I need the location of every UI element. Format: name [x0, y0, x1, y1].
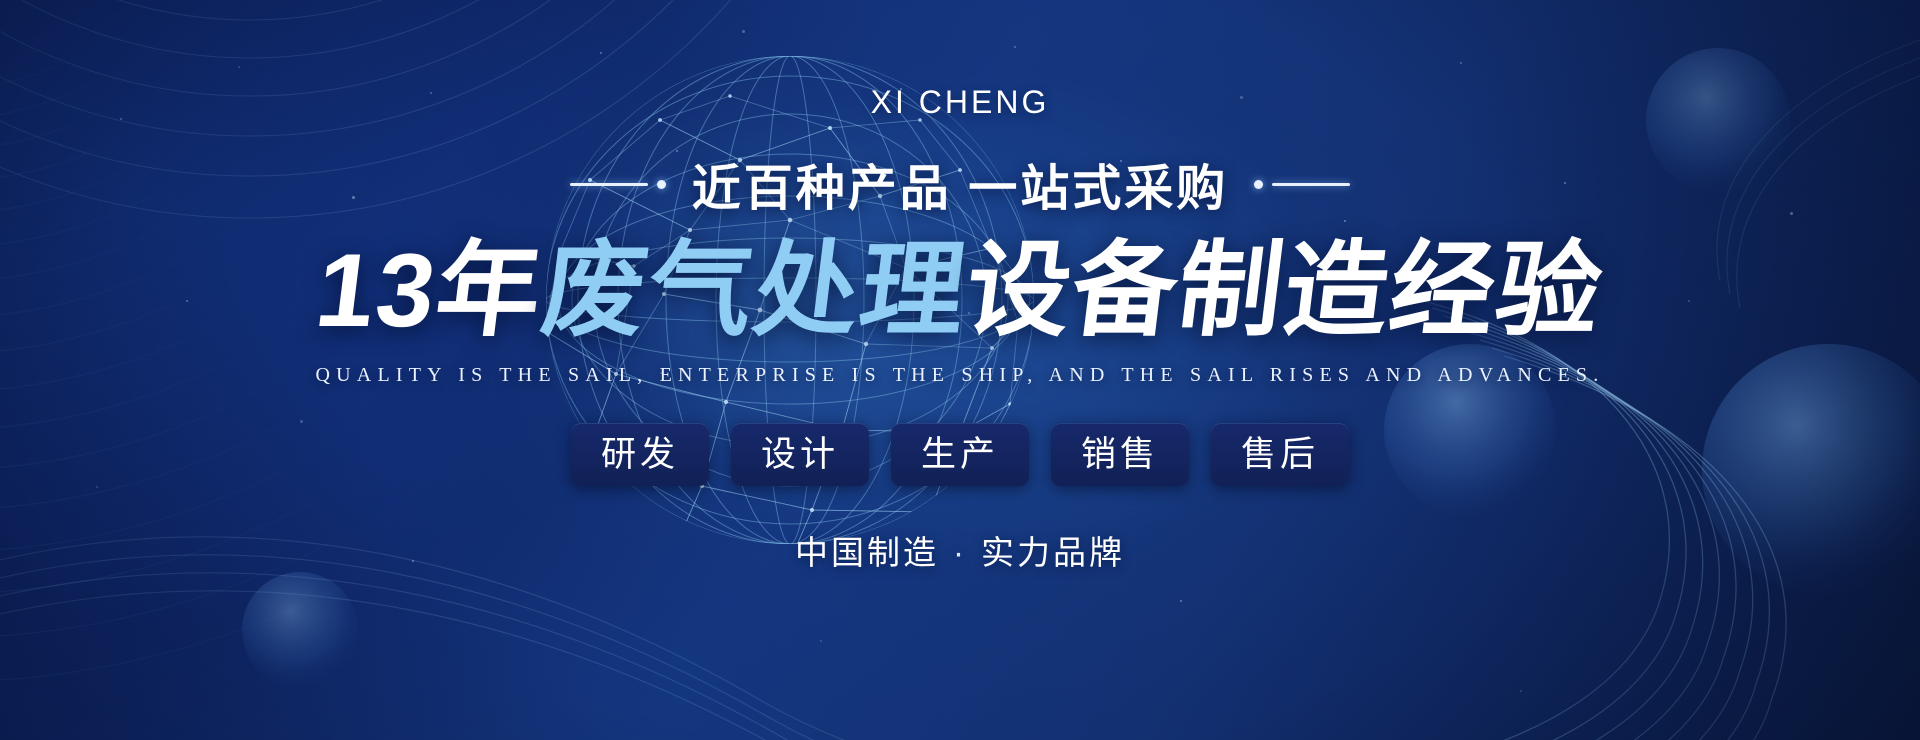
footer-slogan-left: 中国制造 [795, 534, 939, 571]
footer-slogan: 中国制造·实力品牌 [795, 526, 1125, 574]
footer-slogan-right: 实力品牌 [981, 534, 1125, 571]
headline-segment-tail: 设备制造经验 [960, 233, 1610, 349]
left-rule-decoration [570, 180, 666, 189]
banner-headline: 13年废气处理设备制造经验 [310, 236, 1609, 346]
banner-content: XI CHENG 近百种产品 一站式采购 13年废气处理设备制造经验 QUALI… [0, 0, 1920, 740]
headline-segment-years: 13年 [310, 233, 550, 349]
service-pill[interactable]: 生产 [891, 423, 1029, 486]
rule-line [1272, 183, 1350, 186]
service-pill[interactable]: 设计 [731, 423, 869, 486]
right-rule-decoration [1254, 180, 1350, 189]
service-pill[interactable]: 研发 [571, 423, 709, 486]
service-pill[interactable]: 销售 [1051, 423, 1189, 486]
footer-separator: · [939, 534, 981, 571]
rule-dot [657, 180, 666, 189]
english-tagline: QUALITY IS THE SAIL, ENTERPRISE IS THE S… [316, 364, 1605, 387]
rule-dot [1254, 180, 1263, 189]
service-pill[interactable]: 售后 [1211, 423, 1349, 486]
rule-line [570, 183, 648, 186]
service-pill-list: 研发 设计 生产 销售 售后 [571, 423, 1349, 486]
headline-segment-highlight: 废气处理 [536, 233, 974, 349]
subtitle-row: 近百种产品 一站式采购 [570, 149, 1351, 220]
banner-subtitle: 近百种产品 一站式采购 [692, 149, 1229, 220]
brand-english-name: XI CHENG [871, 84, 1050, 121]
hero-banner: XI CHENG 近百种产品 一站式采购 13年废气处理设备制造经验 QUALI… [0, 0, 1920, 740]
